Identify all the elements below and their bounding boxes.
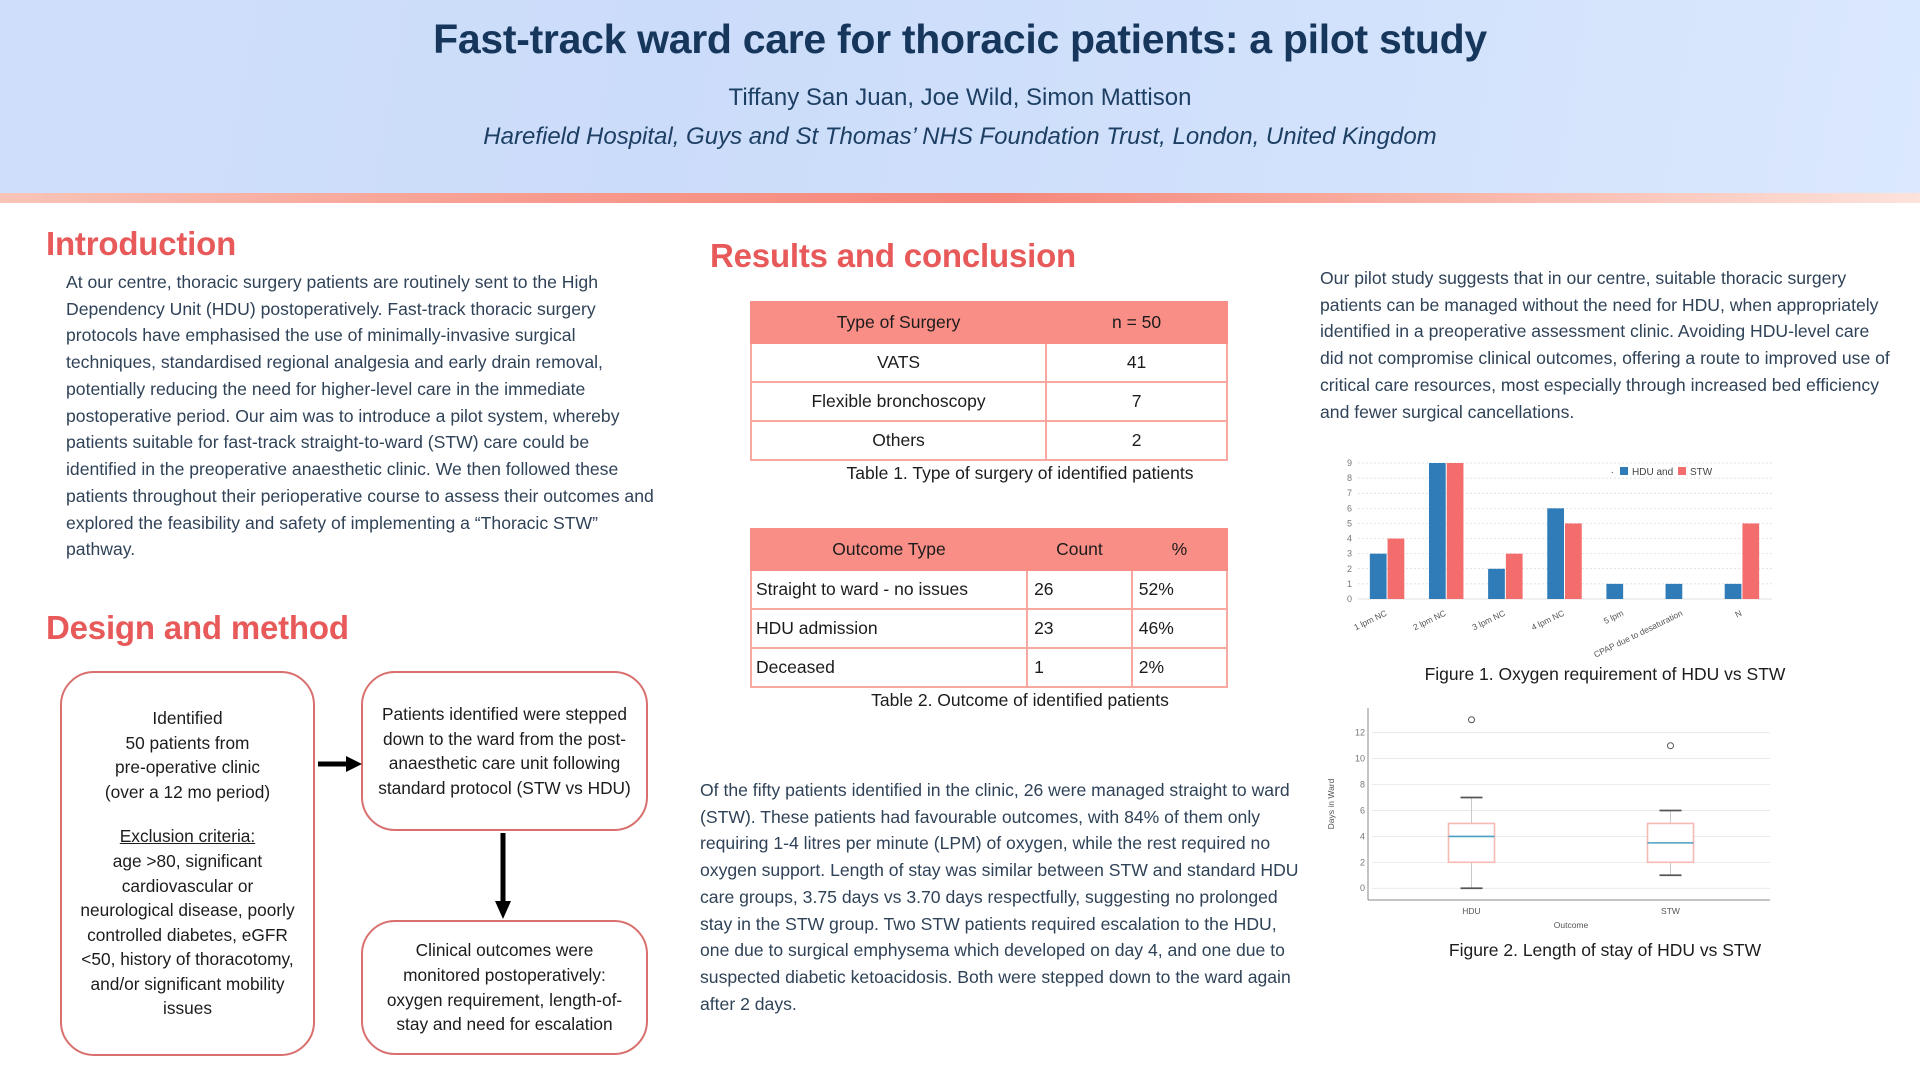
- y-tick-label: 4: [1360, 832, 1365, 842]
- y-tick-label: 0: [1347, 594, 1352, 604]
- section-title-design: Design and method: [46, 609, 656, 647]
- table2-header-pct: %: [1132, 529, 1227, 570]
- figure2-gridlines: [1368, 708, 1770, 900]
- table2-header-count: Count: [1027, 529, 1132, 570]
- bar-hdu-4: [1606, 584, 1623, 599]
- conclusion-paragraph: Our pilot study suggests that in our cen…: [1320, 265, 1890, 425]
- flow-box1-line1: Identified: [74, 706, 301, 731]
- flow-box-stepped-down: Patients identified were stepped down to…: [361, 671, 648, 831]
- table1-r2-c1: 2: [1046, 421, 1227, 460]
- y-tick-label: 6: [1347, 504, 1352, 514]
- figure2-caption: Figure 2. Length of stay of HDU vs STW: [1320, 939, 1890, 962]
- bar-stw-3: [1565, 524, 1582, 600]
- figure1-caption: Figure 1. Oxygen requirement of HDU vs S…: [1320, 663, 1890, 686]
- table2-r1-c2: 46%: [1132, 609, 1227, 648]
- results-paragraph: Of the fifty patients identified in the …: [700, 777, 1310, 1018]
- y-tick-label: 2: [1360, 857, 1365, 867]
- poster-root: Fast-track ward care for thoracic patien…: [0, 0, 1920, 1080]
- y-axis-label: Days in Ward: [1326, 779, 1336, 830]
- column-middle: Results and conclusion Type of Surgery n…: [700, 203, 1310, 1018]
- table-row: Others 2: [751, 421, 1227, 460]
- figure1-legend: ·HDU andSTW: [1611, 467, 1713, 478]
- page-title: Fast-track ward care for thoracic patien…: [0, 14, 1920, 65]
- figure1-x-ticks: 1 lpm NC2 lpm NC3 lpm NC4 lpm NC5 lpmCPA…: [1352, 608, 1743, 657]
- table-row: Straight to ward - no issues 26 52%: [751, 570, 1227, 609]
- y-tick-label: 8: [1347, 474, 1352, 484]
- y-tick-label: 7: [1347, 489, 1352, 499]
- x-tick-label: 3 lpm NC: [1470, 608, 1506, 633]
- table2-r0-c2: 52%: [1132, 570, 1227, 609]
- table1-caption: Table 1. Type of surgery of identified p…: [730, 463, 1310, 484]
- table-row: Deceased 1 2%: [751, 648, 1227, 687]
- figure1-y-ticks: 0123456789: [1347, 458, 1352, 604]
- figure1-bars: [1370, 463, 1759, 599]
- legend-swatch-hdu: [1620, 467, 1628, 475]
- table2-r2-c1: 1: [1027, 648, 1132, 687]
- bar-hdu-1: [1429, 463, 1446, 599]
- x-tick-label: 2 lpm NC: [1411, 608, 1447, 633]
- column-left: Introduction At our centre, thoracic sur…: [46, 203, 656, 1065]
- table1-r1-c1: 7: [1046, 382, 1227, 421]
- bar-stw-1: [1447, 463, 1464, 599]
- bar-hdu-0: [1370, 554, 1387, 599]
- bar-stw-2: [1506, 554, 1523, 599]
- author-list: Tiffany San Juan, Joe Wild, Simon Mattis…: [0, 82, 1920, 113]
- box-hdu: [1449, 824, 1495, 863]
- figure1-bar-chart: 0123456789 1 lpm NC2 lpm NC3 lpm NC4 lpm…: [1320, 447, 1780, 657]
- bar-hdu-2: [1488, 569, 1505, 599]
- bar-stw-6: [1742, 524, 1759, 600]
- table1-r2-c0: Others: [751, 421, 1046, 460]
- introduction-paragraph: At our centre, thoracic surgery patients…: [46, 269, 656, 563]
- header-accent-strip: [0, 193, 1920, 203]
- x-tick-label: N: [1733, 608, 1743, 620]
- table-row: HDU admission 23 46%: [751, 609, 1227, 648]
- poster-body: Introduction At our centre, thoracic sur…: [0, 203, 1920, 1080]
- bar-stw-0: [1388, 539, 1405, 599]
- arrow-down-icon: [491, 833, 515, 919]
- table2-r0-c0: Straight to ward - no issues: [751, 570, 1027, 609]
- table1-header-type: Type of Surgery: [751, 302, 1046, 343]
- flow-box1-exclusion-body: age >80, significant cardiovascular or n…: [74, 849, 301, 1021]
- outlier-hdu-0: [1469, 717, 1475, 723]
- table-row-header: Outcome Type Count %: [751, 529, 1227, 570]
- y-tick-label: 2: [1347, 564, 1352, 574]
- flow-box1-line3: pre-operative clinic: [74, 755, 301, 780]
- column-right: Our pilot study suggests that in our cen…: [1320, 203, 1890, 962]
- table-outcomes: Outcome Type Count % Straight to ward - …: [750, 528, 1228, 688]
- table2-r1-c0: HDU admission: [751, 609, 1027, 648]
- table2-header-outcome: Outcome Type: [751, 529, 1027, 570]
- table-row-header: Type of Surgery n = 50: [751, 302, 1227, 343]
- legend-label-stw: STW: [1690, 467, 1713, 478]
- figure2-y-ticks: 024681012: [1355, 728, 1365, 893]
- y-tick-label: 10: [1355, 754, 1365, 764]
- flow-box-identified: Identified 50 patients from pre-operativ…: [60, 671, 315, 1056]
- table-row: Flexible bronchoscopy 7: [751, 382, 1227, 421]
- figure2-container: 024681012 HDUSTW OutcomeDays in Ward Fig…: [1320, 698, 1890, 962]
- affiliation: Harefield Hospital, Guys and St Thomas’ …: [0, 121, 1920, 152]
- x-axis-label: Outcome: [1554, 920, 1589, 930]
- table1-r0-c1: 41: [1046, 343, 1227, 382]
- table1-r1-c0: Flexible bronchoscopy: [751, 382, 1046, 421]
- table2-r2-c0: Deceased: [751, 648, 1027, 687]
- flow-box2-text: Patients identified were stepped down to…: [375, 702, 634, 800]
- x-tick-label-hdu: HDU: [1462, 906, 1480, 916]
- poster-header: Fast-track ward care for thoracic patien…: [0, 0, 1920, 193]
- outlier-stw-0: [1668, 743, 1674, 749]
- flow-box3-text: Clinical outcomes were monitored postope…: [375, 938, 634, 1036]
- bar-hdu-3: [1547, 509, 1564, 600]
- bar-hdu-5: [1666, 584, 1683, 599]
- y-tick-label: 9: [1347, 458, 1352, 468]
- section-title-introduction: Introduction: [46, 225, 656, 263]
- x-tick-label-stw: STW: [1661, 906, 1680, 916]
- x-tick-label: 5 lpm: [1602, 608, 1625, 626]
- flow-box1-exclusion-heading: Exclusion criteria:: [74, 824, 301, 849]
- table2-r1-c1: 23: [1027, 609, 1132, 648]
- table-type-of-surgery: Type of Surgery n = 50 VATS 41 Flexible …: [750, 301, 1228, 461]
- y-tick-label: 3: [1347, 549, 1352, 559]
- figure1-container: 0123456789 1 lpm NC2 lpm NC3 lpm NC4 lpm…: [1320, 447, 1890, 686]
- arrow-right-icon: [318, 753, 362, 775]
- y-tick-label: 8: [1360, 780, 1365, 790]
- legend-swatch-stw: [1678, 467, 1686, 475]
- figure2-x-ticks: HDUSTW: [1462, 906, 1680, 916]
- bar-hdu-6: [1725, 584, 1742, 599]
- table2-caption: Table 2. Outcome of identified patients: [730, 690, 1310, 711]
- figure2-box-plot: 024681012 HDUSTW OutcomeDays in Ward: [1320, 698, 1780, 933]
- y-tick-label: 5: [1347, 519, 1352, 529]
- table2-r2-c2: 2%: [1132, 648, 1227, 687]
- x-tick-label: 1 lpm NC: [1352, 608, 1388, 633]
- y-tick-label: 6: [1360, 806, 1365, 816]
- section-title-results: Results and conclusion: [710, 237, 1310, 275]
- x-tick-label: 4 lpm NC: [1530, 608, 1566, 633]
- table1-header-n: n = 50: [1046, 302, 1227, 343]
- y-tick-label: 4: [1347, 534, 1352, 544]
- flow-box1-line2: 50 patients from: [74, 731, 301, 756]
- table-row: VATS 41: [751, 343, 1227, 382]
- y-tick-label: 12: [1355, 728, 1365, 738]
- flow-box1-line4: (over a 12 mo period): [74, 780, 301, 805]
- method-flowchart: Identified 50 patients from pre-operativ…: [46, 665, 656, 1065]
- flow-box-clinical-outcomes: Clinical outcomes were monitored postope…: [361, 920, 648, 1055]
- y-tick-label: 1: [1347, 579, 1352, 589]
- table2-r0-c1: 26: [1027, 570, 1132, 609]
- legend-title: ·: [1611, 467, 1614, 478]
- y-tick-label: 0: [1360, 883, 1365, 893]
- table1-r0-c0: VATS: [751, 343, 1046, 382]
- legend-label-hdu: HDU and: [1632, 467, 1673, 478]
